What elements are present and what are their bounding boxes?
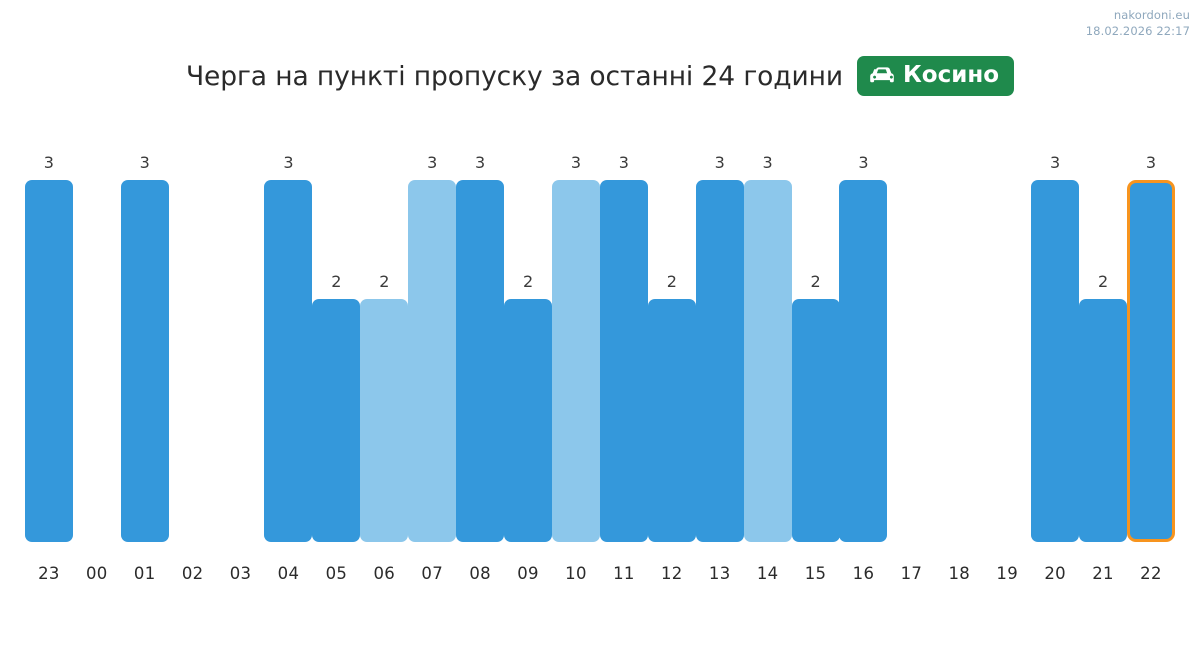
bar-value-14: 3 [763,155,773,171]
bar-slot-05: 2 [313,132,361,542]
bar-21[interactable]: 2 [1079,299,1127,542]
page-title: Черга на пункті пропуску за останні 24 г… [186,61,843,92]
x-tick-20: 20 [1031,564,1079,583]
bar-value-05: 2 [331,274,341,290]
bar-slot-19 [983,132,1031,542]
bar-rect-04[interactable] [264,180,312,542]
bar-value-15: 2 [810,274,820,290]
bar-rect-20[interactable] [1031,180,1079,542]
bar-slot-14: 3 [744,132,792,542]
bar-01[interactable]: 3 [121,180,169,542]
bar-slot-22: 3 [1127,132,1175,542]
bar-rect-10[interactable] [552,180,600,542]
bar-14[interactable]: 3 [744,180,792,542]
bar-value-11: 3 [619,155,629,171]
x-tick-07: 07 [408,564,456,583]
bar-slot-07: 3 [408,132,456,542]
bar-22[interactable]: 3 [1127,180,1175,542]
bar-value-06: 2 [379,274,389,290]
bar-rect-21[interactable] [1079,299,1127,542]
bar-slot-18 [935,132,983,542]
bar-slot-06: 2 [360,132,408,542]
bar-11[interactable]: 3 [600,180,648,542]
bar-slot-20: 3 [1031,132,1079,542]
bar-value-07: 3 [427,155,437,171]
bar-slot-01: 3 [121,132,169,542]
x-tick-03: 03 [217,564,265,583]
x-tick-10: 10 [552,564,600,583]
bar-rect-08[interactable] [456,180,504,542]
chart-plot-area: 333223323323323323 [25,132,1175,542]
bar-slot-10: 3 [552,132,600,542]
chart-x-axis: 2300010203040506070809101112131415161718… [25,550,1175,590]
bar-20[interactable]: 3 [1031,180,1079,542]
queue-bar-chart: 333223323323323323 230001020304050607080… [25,132,1175,602]
bar-rect-13[interactable] [696,180,744,542]
bar-value-09: 2 [523,274,533,290]
bar-value-01: 3 [140,155,150,171]
bar-slot-00 [73,132,121,542]
chart-header: Черга на пункті пропуску за останні 24 г… [0,56,1200,96]
bar-rect-07[interactable] [408,180,456,542]
x-tick-22: 22 [1127,564,1175,583]
x-tick-09: 09 [504,564,552,583]
crossing-point-label: Косино [903,64,999,87]
bar-slot-11: 3 [600,132,648,542]
bar-rect-05[interactable] [312,299,360,542]
bar-slot-13: 3 [696,132,744,542]
bar-13[interactable]: 3 [696,180,744,542]
x-tick-17: 17 [888,564,936,583]
x-tick-04: 04 [265,564,313,583]
bar-slot-21: 2 [1079,132,1127,542]
x-tick-23: 23 [25,564,73,583]
x-tick-02: 02 [169,564,217,583]
bar-value-12: 2 [667,274,677,290]
x-tick-00: 00 [73,564,121,583]
bar-rect-11[interactable] [600,180,648,542]
car-icon [870,66,896,86]
bar-slot-17 [888,132,936,542]
bar-value-21: 2 [1098,274,1108,290]
x-tick-14: 14 [744,564,792,583]
x-tick-05: 05 [313,564,361,583]
bar-slot-02 [169,132,217,542]
bar-05[interactable]: 2 [312,299,360,542]
bar-value-10: 3 [571,155,581,171]
bar-slot-15: 2 [792,132,840,542]
crossing-point-badge[interactable]: Косино [857,56,1014,96]
x-tick-16: 16 [840,564,888,583]
bar-slot-23: 3 [25,132,73,542]
bar-rect-12[interactable] [648,299,696,542]
bar-rect-14[interactable] [744,180,792,542]
bar-slot-12: 2 [648,132,696,542]
watermark-site: nakordoni.eu [1086,8,1190,24]
x-tick-12: 12 [648,564,696,583]
x-tick-21: 21 [1079,564,1127,583]
bar-value-22: 3 [1146,155,1156,171]
bar-23[interactable]: 3 [25,180,73,542]
bar-value-04: 3 [283,155,293,171]
bar-value-13: 3 [715,155,725,171]
bar-rect-23[interactable] [25,180,73,542]
x-tick-15: 15 [792,564,840,583]
x-tick-18: 18 [935,564,983,583]
bar-rect-01[interactable] [121,180,169,542]
x-tick-06: 06 [360,564,408,583]
bar-slot-03 [217,132,265,542]
x-tick-19: 19 [983,564,1031,583]
bar-slot-16: 3 [840,132,888,542]
bar-value-08: 3 [475,155,485,171]
bar-04[interactable]: 3 [264,180,312,542]
bar-15[interactable]: 2 [792,299,840,542]
bar-06[interactable]: 2 [360,299,408,542]
bar-12[interactable]: 2 [648,299,696,542]
bar-slot-08: 3 [456,132,504,542]
bar-value-23: 3 [44,155,54,171]
bar-16[interactable]: 3 [839,180,887,542]
bar-10[interactable]: 3 [552,180,600,542]
x-tick-11: 11 [600,564,648,583]
bar-08[interactable]: 3 [456,180,504,542]
x-tick-08: 08 [456,564,504,583]
bar-09[interactable]: 2 [504,299,552,542]
bar-slot-09: 2 [504,132,552,542]
watermark-timestamp: 18.02.2026 22:17 [1086,24,1190,40]
bar-rect-16[interactable] [839,180,887,542]
bar-rect-15[interactable] [792,299,840,542]
bar-value-20: 3 [1050,155,1060,171]
x-tick-01: 01 [121,564,169,583]
bar-rect-22[interactable] [1127,180,1175,542]
watermark: nakordoni.eu 18.02.2026 22:17 [1086,8,1190,39]
bar-value-16: 3 [858,155,868,171]
x-tick-13: 13 [696,564,744,583]
bar-rect-09[interactable] [504,299,552,542]
bar-slot-04: 3 [265,132,313,542]
bar-07[interactable]: 3 [408,180,456,542]
bar-rect-06[interactable] [360,299,408,542]
